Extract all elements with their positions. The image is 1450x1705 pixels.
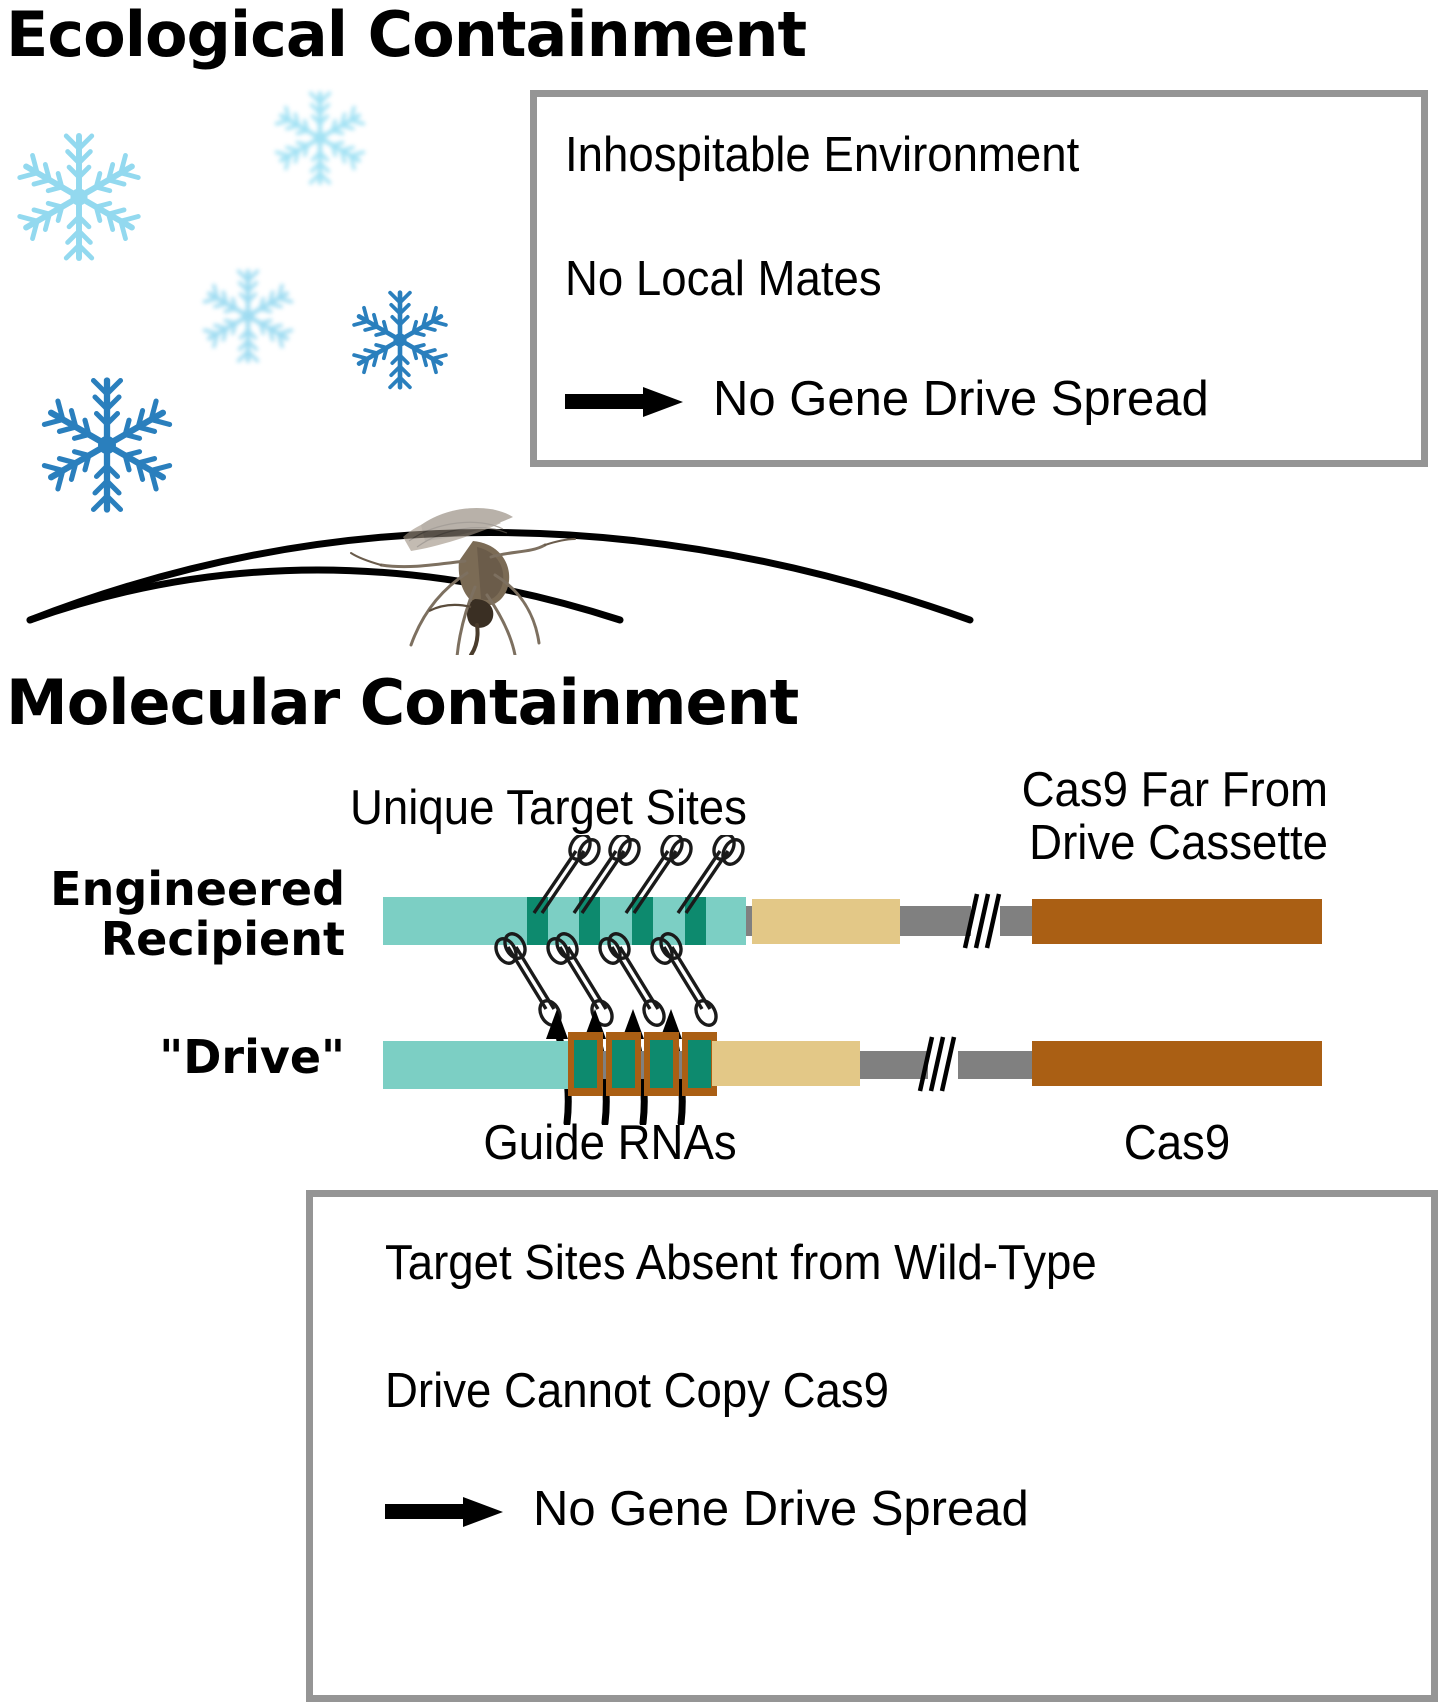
mosquito-icon (325, 495, 605, 655)
snowflake-3-icon (196, 264, 300, 368)
drive-cas9-region (1032, 1041, 1322, 1086)
recipient-linker-3 (1000, 906, 1046, 936)
curved-arrow-up-icon-group (545, 985, 755, 1125)
drive-linker-3 (958, 1051, 1042, 1079)
molecular-conclusion-text: No Gene Drive Spread (533, 1485, 1029, 1534)
arrow-right-icon (565, 387, 683, 413)
drive-label: "Drive" (0, 1033, 345, 1083)
ecological-containment-heading: Ecological Containment (6, 4, 806, 66)
unique-target-sites-label: Unique Target Sites (350, 783, 747, 834)
drive-linker-2 (850, 1051, 928, 1079)
molecular-conclusion-row: No Gene Drive Spread (385, 1485, 1029, 1534)
ecological-callout-line-1: Inhospitable Environment (565, 131, 1079, 180)
molecular-callout-line-1: Target Sites Absent from Wild-Type (385, 1239, 1097, 1288)
snowflake-4-icon (345, 285, 455, 395)
ecological-callout-line-2: No Local Mates (565, 255, 882, 304)
arrow-right-icon (385, 1497, 503, 1523)
snowflake-2-icon (268, 86, 372, 190)
curved-arrow-up-icon (557, 1029, 568, 1123)
cas9-far-from-label-line2: Drive Cassette (911, 818, 1328, 869)
break-slashes-icon-drive (915, 1033, 963, 1095)
engineered-recipient-label-line1: Engineered (0, 865, 345, 915)
molecular-callout-box: Target Sites Absent from Wild-Type Drive… (306, 1190, 1438, 1702)
recipient-cas9-region (1032, 899, 1322, 944)
snowflake-1-icon (8, 126, 150, 268)
recipient-linker-2 (893, 906, 971, 936)
engineered-recipient-label-line2: Recipient (0, 915, 345, 965)
engineered-recipient-label: Engineered Recipient (0, 865, 345, 964)
ecological-conclusion-text: No Gene Drive Spread (713, 375, 1209, 424)
cas9-far-from-label-line1: Cas9 Far From (911, 765, 1328, 816)
ecological-conclusion-row: No Gene Drive Spread (565, 375, 1209, 424)
ecological-callout-box: Inhospitable Environment No Local Mates … (530, 90, 1428, 467)
scissors-icon (534, 835, 603, 913)
molecular-callout-line-2: Drive Cannot Copy Cas9 (385, 1367, 889, 1416)
break-slashes-icon-recipient (960, 890, 1008, 952)
guide-rnas-label: Guide RNAs (461, 1118, 759, 1169)
molecular-containment-heading: Molecular Containment (6, 672, 798, 734)
cas9-label: Cas9 (1042, 1118, 1312, 1169)
